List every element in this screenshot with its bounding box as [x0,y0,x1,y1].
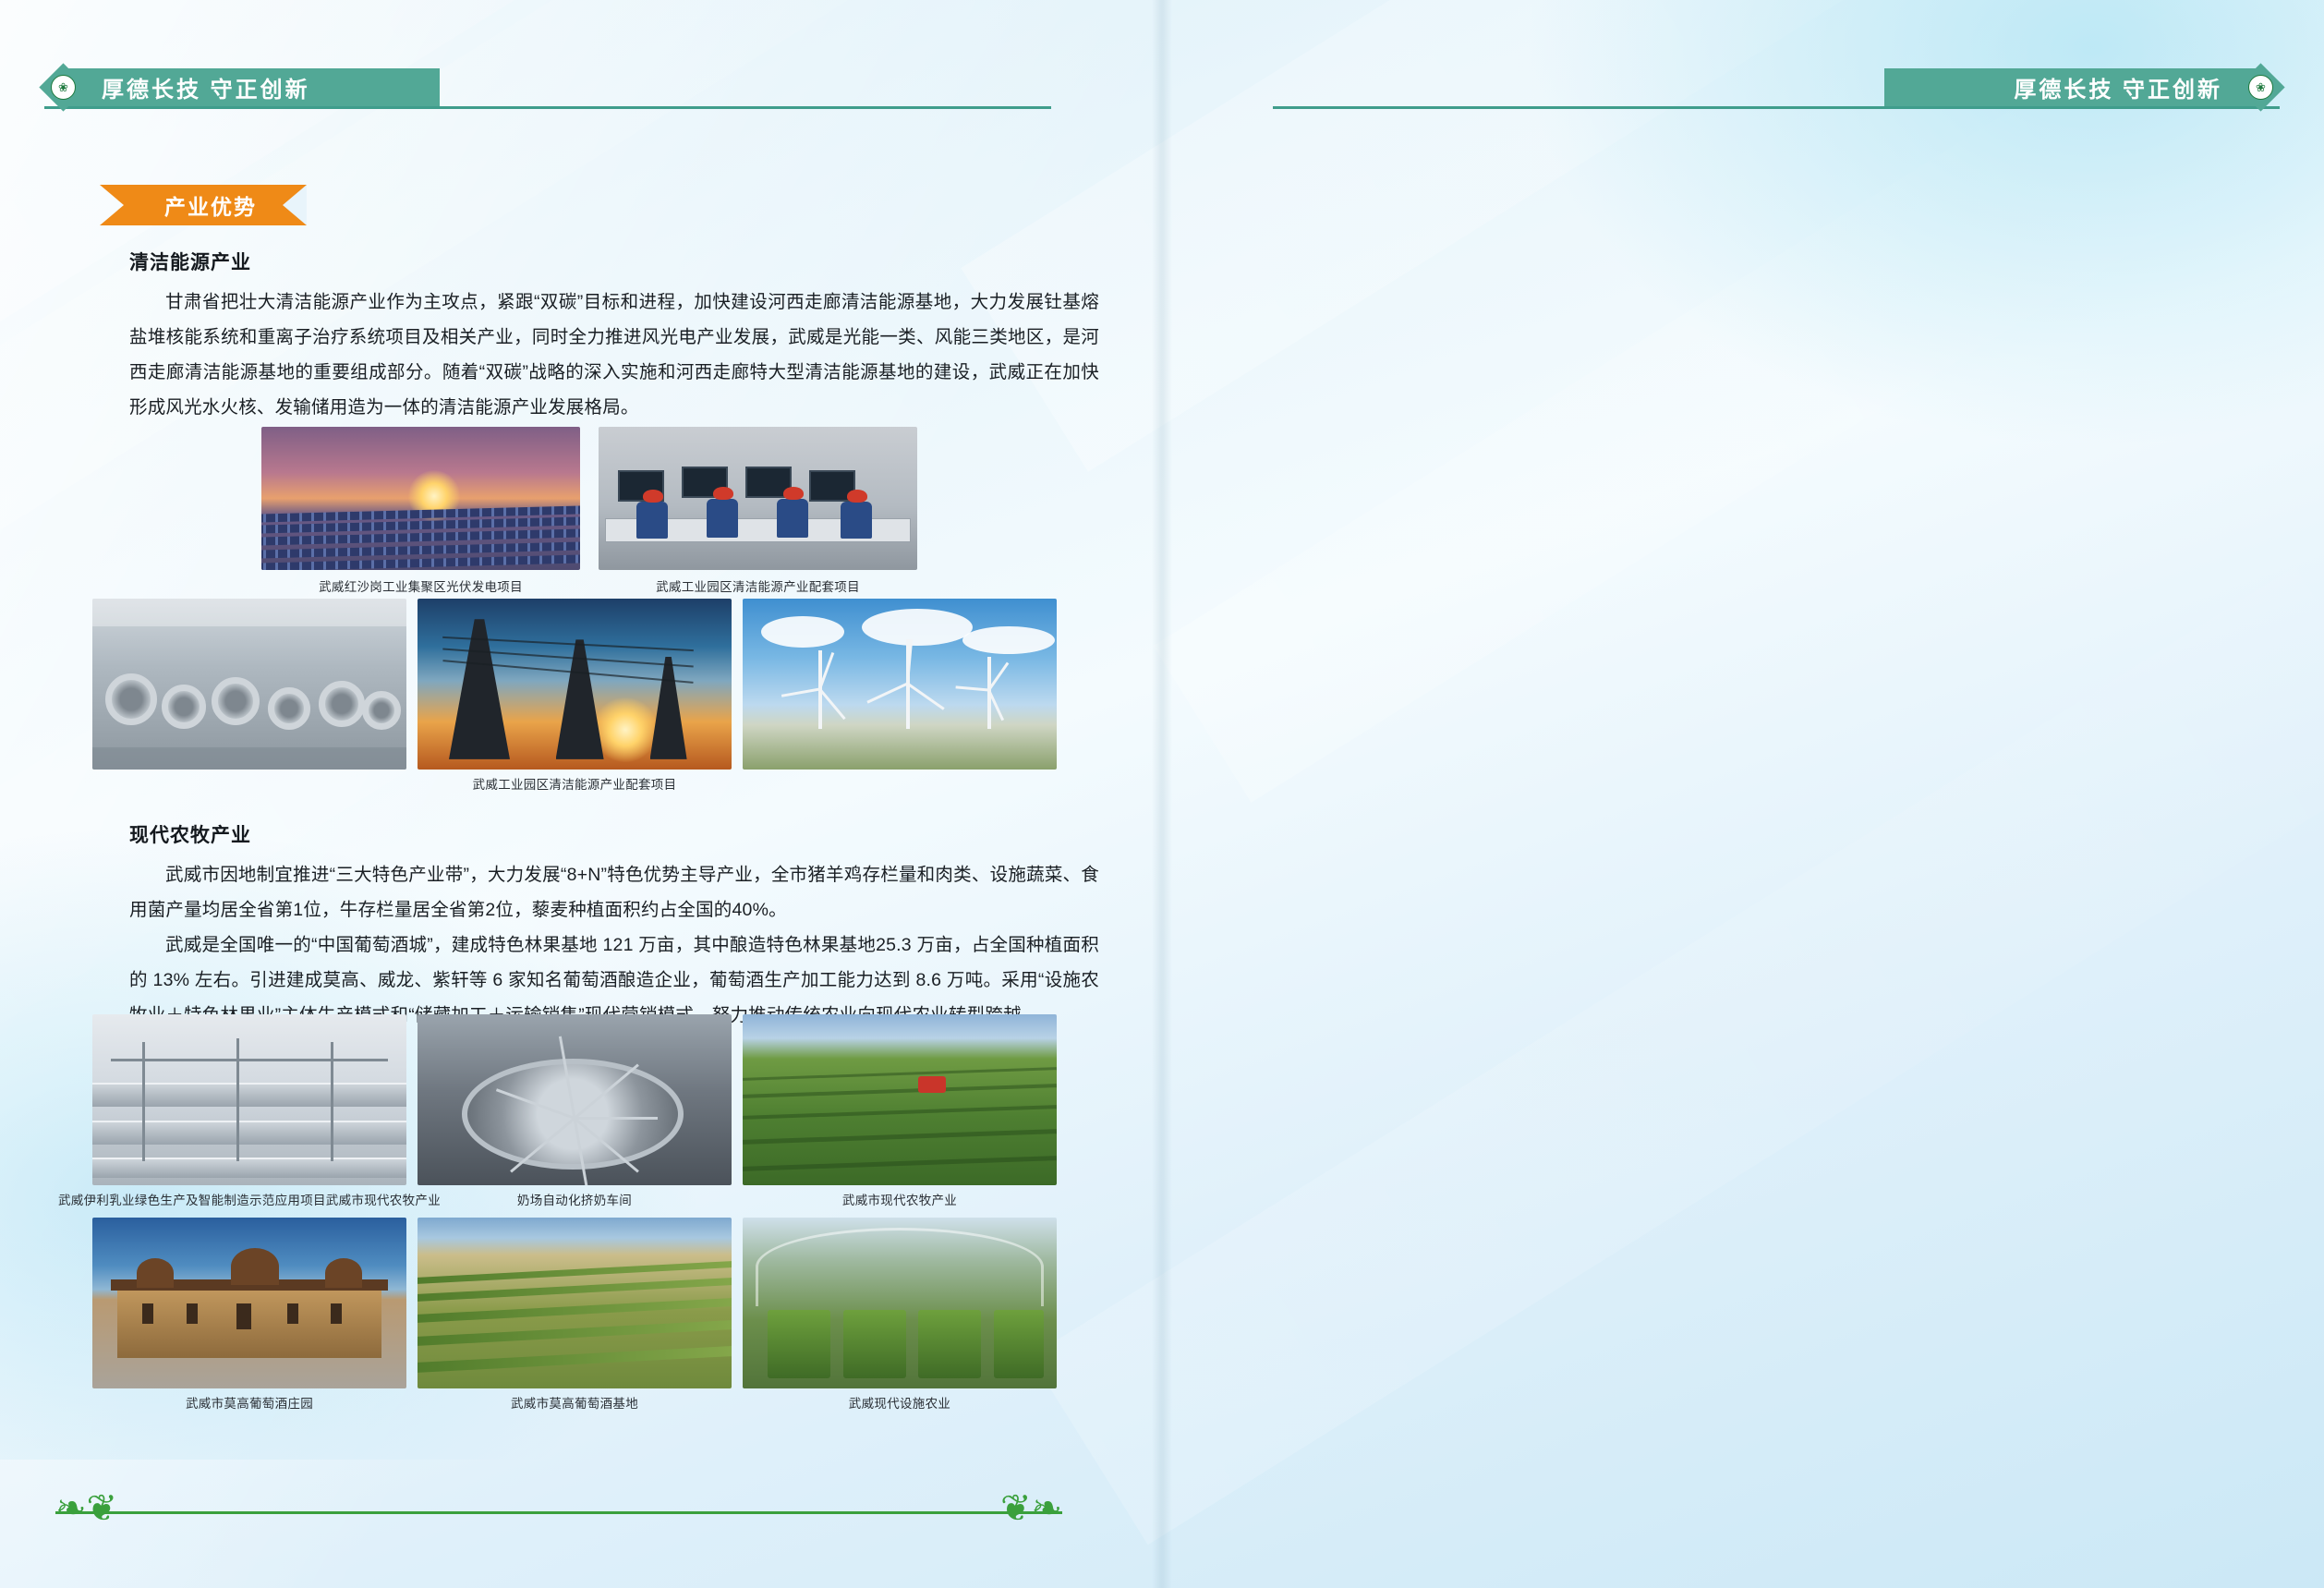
photo-caption: 武威现代设施农业 [743,1393,1057,1412]
chevron-left-icon [1922,69,1943,106]
control-room-art [599,427,917,570]
photo-pipe-factory [92,599,406,770]
greenhouse-art [743,1218,1057,1388]
dairy-plant-art [92,1014,406,1185]
photo-caption: 武威市现代农牧产业 [743,1190,1057,1208]
clean-energy-paragraph: 甘肃省把壮大清洁能源产业作为主攻点，紧跟“双碳”目标和进程，加快建设河西走廊清洁… [129,285,1099,425]
photo-caption: 武威伊利乳业绿色生产及智能制造示范应用项目武威市现代农牧产业 [55,1190,443,1208]
leaf-ornament-icon: ❦❧ [1000,1490,1062,1527]
photo-vineyard [418,1218,732,1388]
chevron-right-icon [406,69,427,106]
photo-greenhouse [743,1218,1057,1388]
photo-crop-field [743,1014,1057,1185]
leaf-ornament-icon: ❧❦ [55,1490,117,1527]
photo-caption: 武威红沙岗工业集聚区光伏发电项目 [261,576,580,595]
photo-caption: 奶场自动化挤奶车间 [482,1190,667,1208]
chevron-right-icon [381,69,402,106]
photo-solar-farm [261,427,580,570]
chevron-left-icon [1972,69,1992,106]
section-ribbon-label: 产业优势 [164,189,257,221]
agriculture-section: 现代农牧产业 武威市因地制宜推进“三大特色产业带”，大力发展“8+N”特色优势主… [129,820,1099,1033]
running-head-bar: 厚德长技 守正创新 [68,68,440,106]
footer-rule [55,1511,1062,1514]
seal-inner: ❀ [51,75,76,100]
chevron-right-icon [332,69,352,106]
seal-inner: ❀ [2248,75,2273,100]
vineyard-art [418,1218,732,1388]
chevron-group-right [327,68,427,106]
chevron-group-left [1897,68,1997,106]
photo-winery-chateau [92,1218,406,1388]
photo-dairy-plant [92,1014,406,1185]
section-ribbon: 产业优势 [100,185,307,225]
wind-farm-art [743,599,1057,770]
running-head-rule [1273,106,2280,109]
agriculture-title: 现代农牧产业 [129,820,1099,848]
footer-ornament-left: ❧❦ ❦❧ [55,1473,1062,1529]
photo-control-room [599,427,917,570]
photo-caption: 武威市莫高葡萄酒庄园 [92,1393,406,1412]
photo-caption: 武威市莫高葡萄酒基地 [418,1393,732,1412]
solar-farm-art [261,427,580,570]
pipe-factory-art [92,599,406,770]
running-head-text: 厚德长技 守正创新 [2014,71,2222,103]
running-head-bar: 厚德长技 守正创新 [1884,68,2256,106]
chevron-left-icon [1897,69,1918,106]
right-page: 厚德长技 守正创新 ❀ 文化旅游产业 武威市以建设文化旅游名市为目标，以融合发展… [1162,0,2324,1588]
agriculture-paragraph-1: 武威市因地制宜推进“三大特色产业带”，大力发展“8+N”特色优势主导产业，全市猪… [129,857,1099,927]
power-pylon-art [418,599,732,770]
running-head-right: 厚德长技 守正创新 ❀ [1273,68,2280,109]
left-page: 厚德长技 守正创新 ❀ 产业优势 清洁能源产业 甘肃省把壮大清洁能源产业作为主攻… [0,0,1162,1588]
photo-caption: 武威工业园区清洁能源产业配套项目 [418,774,732,793]
running-head-rule [44,106,1051,109]
clean-energy-section: 清洁能源产业 甘肃省把壮大清洁能源产业作为主攻点，紧跟“双碳”目标和进程，加快建… [129,248,1099,425]
running-head-left: 厚德长技 守正创新 ❀ [44,68,1051,109]
photo-milking-carousel [418,1014,732,1185]
clean-energy-title: 清洁能源产业 [129,248,1099,275]
crop-field-art [743,1014,1057,1185]
brochure-spread: 厚德长技 守正创新 ❀ 产业优势 清洁能源产业 甘肃省把壮大清洁能源产业作为主攻… [0,0,2324,1588]
winery-chateau-art [92,1218,406,1388]
chevron-right-icon [357,69,377,106]
running-head-text: 厚德长技 守正创新 [102,71,310,103]
milking-carousel-art [418,1014,732,1185]
photo-wind-farm [743,599,1057,770]
chevron-left-icon [1947,69,1967,106]
photo-caption: 武威工业园区清洁能源产业配套项目 [599,576,917,595]
photo-power-pylons [418,599,732,770]
